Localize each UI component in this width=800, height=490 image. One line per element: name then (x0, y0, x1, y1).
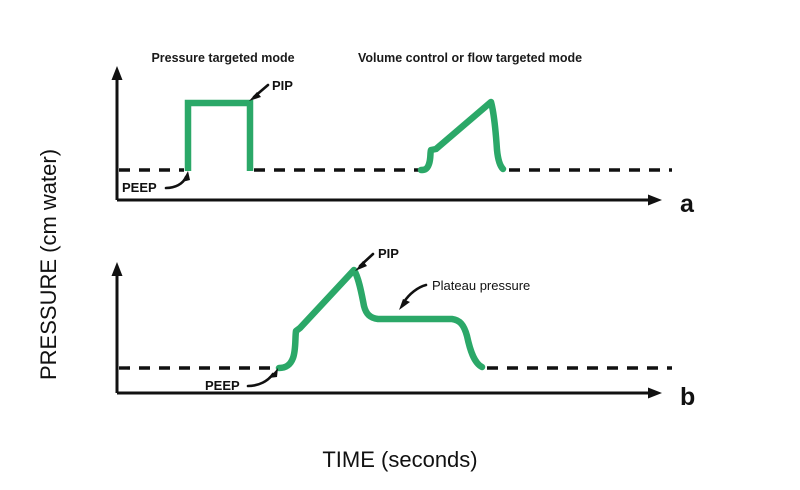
panel-a-title-volume-control: Volume control or flow targeted mode (358, 51, 582, 65)
panel-a-pip-label: PIP (272, 78, 293, 93)
panel-a-title-pressure-targeted: Pressure targeted mode (151, 51, 294, 65)
panel-b-y-axis (112, 262, 123, 393)
panel-b-x-axis (117, 388, 662, 399)
panel-b: PIP Plateau pressure PEEP b (112, 246, 696, 411)
panel-a-x-axis (117, 195, 662, 206)
panel-b-plateau-annotation: Plateau pressure (399, 278, 530, 310)
panel-a-peep-label: PEEP (122, 180, 157, 195)
ventilator-pressure-waveform-figure: PRESSURE (cm water) TIME (seconds) Press… (0, 0, 800, 490)
figure-canvas: PRESSURE (cm water) TIME (seconds) Press… (0, 0, 800, 490)
panel-b-peep-label: PEEP (205, 378, 240, 393)
panel-b-pip-annotation: PIP (355, 246, 399, 271)
panel-b-peep-annotation: PEEP (205, 368, 278, 393)
panel-a: Pressure targeted mode Volume control or… (112, 51, 696, 218)
y-axis-title: PRESSURE (cm water) (36, 149, 61, 380)
panel-b-pip-label: PIP (378, 246, 399, 261)
panel-a-pressure-targeted-waveform (188, 103, 250, 171)
panel-a-pip-annotation: PIP (249, 78, 293, 101)
panel-a-letter: a (680, 190, 695, 218)
panel-a-volume-control-waveform (421, 102, 503, 170)
panel-b-letter: b (680, 383, 695, 411)
x-axis-title: TIME (seconds) (322, 447, 477, 472)
panel-b-plateau-label: Plateau pressure (432, 278, 530, 293)
panel-a-peep-annotation: PEEP (122, 171, 190, 195)
panel-a-y-axis (112, 66, 123, 200)
